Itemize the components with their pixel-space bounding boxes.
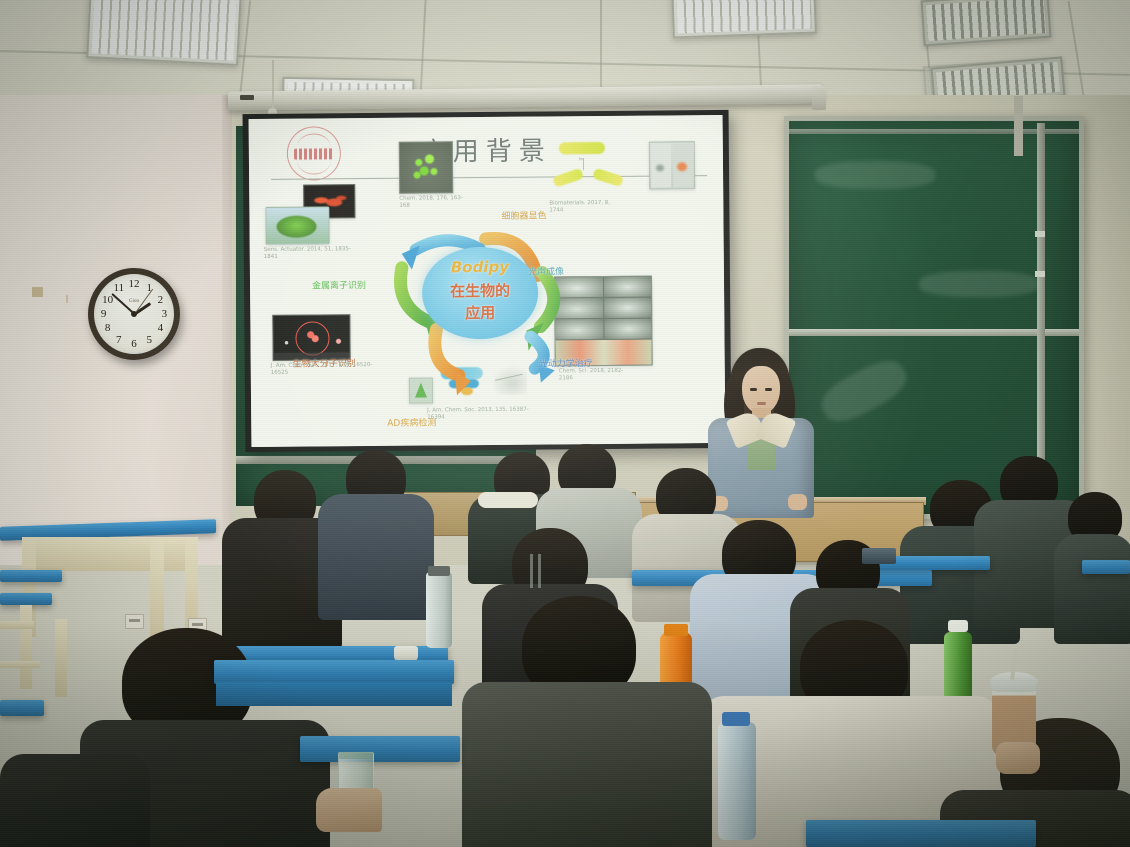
swirl-text-line2: 在生物的 [422,280,538,302]
slide-label-photoacoustic: 光声成像 [528,264,564,277]
citation: Chem. 2018, 176, 163- 168 [399,195,463,210]
presenter-hand-right [788,494,807,510]
citation: Sens. Actuator. 2014, 51, 1835- 1841 [264,246,351,262]
ceiling-lamp [671,0,817,38]
chalk-rail [789,329,1079,336]
audience-person [318,450,434,620]
citation: J. Am. Chem. Soc. 2013, 135, 16387- 1639… [427,407,529,423]
figure-ad-detection [272,314,350,361]
desk [300,736,460,762]
citation: J. Am. Chem. Soc. 2017, 139, 16520- 1652… [271,362,373,378]
swirl-center: Bodipy 在生物的 应用 [422,247,539,340]
swirl-text-bodipy: Bodipy [422,258,538,277]
presenter-eye-right [765,388,772,391]
hand [996,742,1040,774]
slide-label-metal-ion: 金属离子识别 [312,278,366,291]
lecture-hall-photo: Gion 12 1 2 3 4 5 6 7 8 9 10 11 [0,0,1130,847]
ceiling-lamp [86,0,242,66]
wall-clock: Gion 12 1 2 3 4 5 6 7 8 9 10 11 [88,268,180,360]
clock-numeral: 4 [158,322,164,334]
roller-button[interactable] [240,95,254,100]
presenter-face [742,366,780,414]
clock-numeral: 11 [114,282,125,294]
figure-mouse-pa-imaging [649,141,695,189]
thermos-bottle [426,572,452,648]
ceiling-vent [921,0,1052,46]
desk [0,700,44,716]
projection-screen: 应用背景 [243,110,732,452]
figure-metal-ion-sample [265,206,329,245]
roller-cord [272,60,274,110]
roller-endcap [812,86,826,110]
clock-center-pin [131,311,137,317]
water-bottle [718,722,756,840]
desk [0,570,62,582]
citation: Biomaterials. 2017, 8, 1744 [549,200,610,215]
clock-numeral: 12 [129,278,140,290]
phone[interactable] [862,548,896,564]
clock-numeral: 3 [162,308,168,320]
presenter-eye-left [750,388,757,391]
clock-numeral: 9 [101,308,107,320]
desk [1082,560,1130,574]
slide-label-protein-labeling: 细胞器显色 [501,208,546,221]
audience-person [0,740,150,847]
water-bottle-cap [722,712,750,726]
clock-brand: Gion [129,299,139,304]
clock-numeral: 7 [116,334,122,346]
clock-numeral: 8 [105,322,111,334]
roller-bracket [1014,96,1023,156]
desk-front [216,682,452,706]
clock-numeral: 2 [158,294,164,306]
desk [214,660,454,684]
wall-nail [66,295,68,303]
swirl-text-line3: 应用 [422,302,538,324]
wall-outlet[interactable] [125,614,144,629]
presenter-mouth [757,402,766,405]
figure-protein-micrograph [399,141,453,193]
clock-numeral: 5 [146,334,152,346]
slide: 应用背景 [249,115,726,447]
hair-highlight [524,554,558,588]
wall-hook [32,287,43,297]
desk [806,820,1036,847]
audience-person [462,596,712,847]
clock-numeral: 6 [131,338,137,350]
hand [316,788,382,832]
citation: Chem. Sci. 2018, 2182- 2186 [559,368,624,383]
figure-molecular-structures: hν [549,140,643,197]
white-cap [478,492,538,508]
thermos-cap [428,566,450,576]
